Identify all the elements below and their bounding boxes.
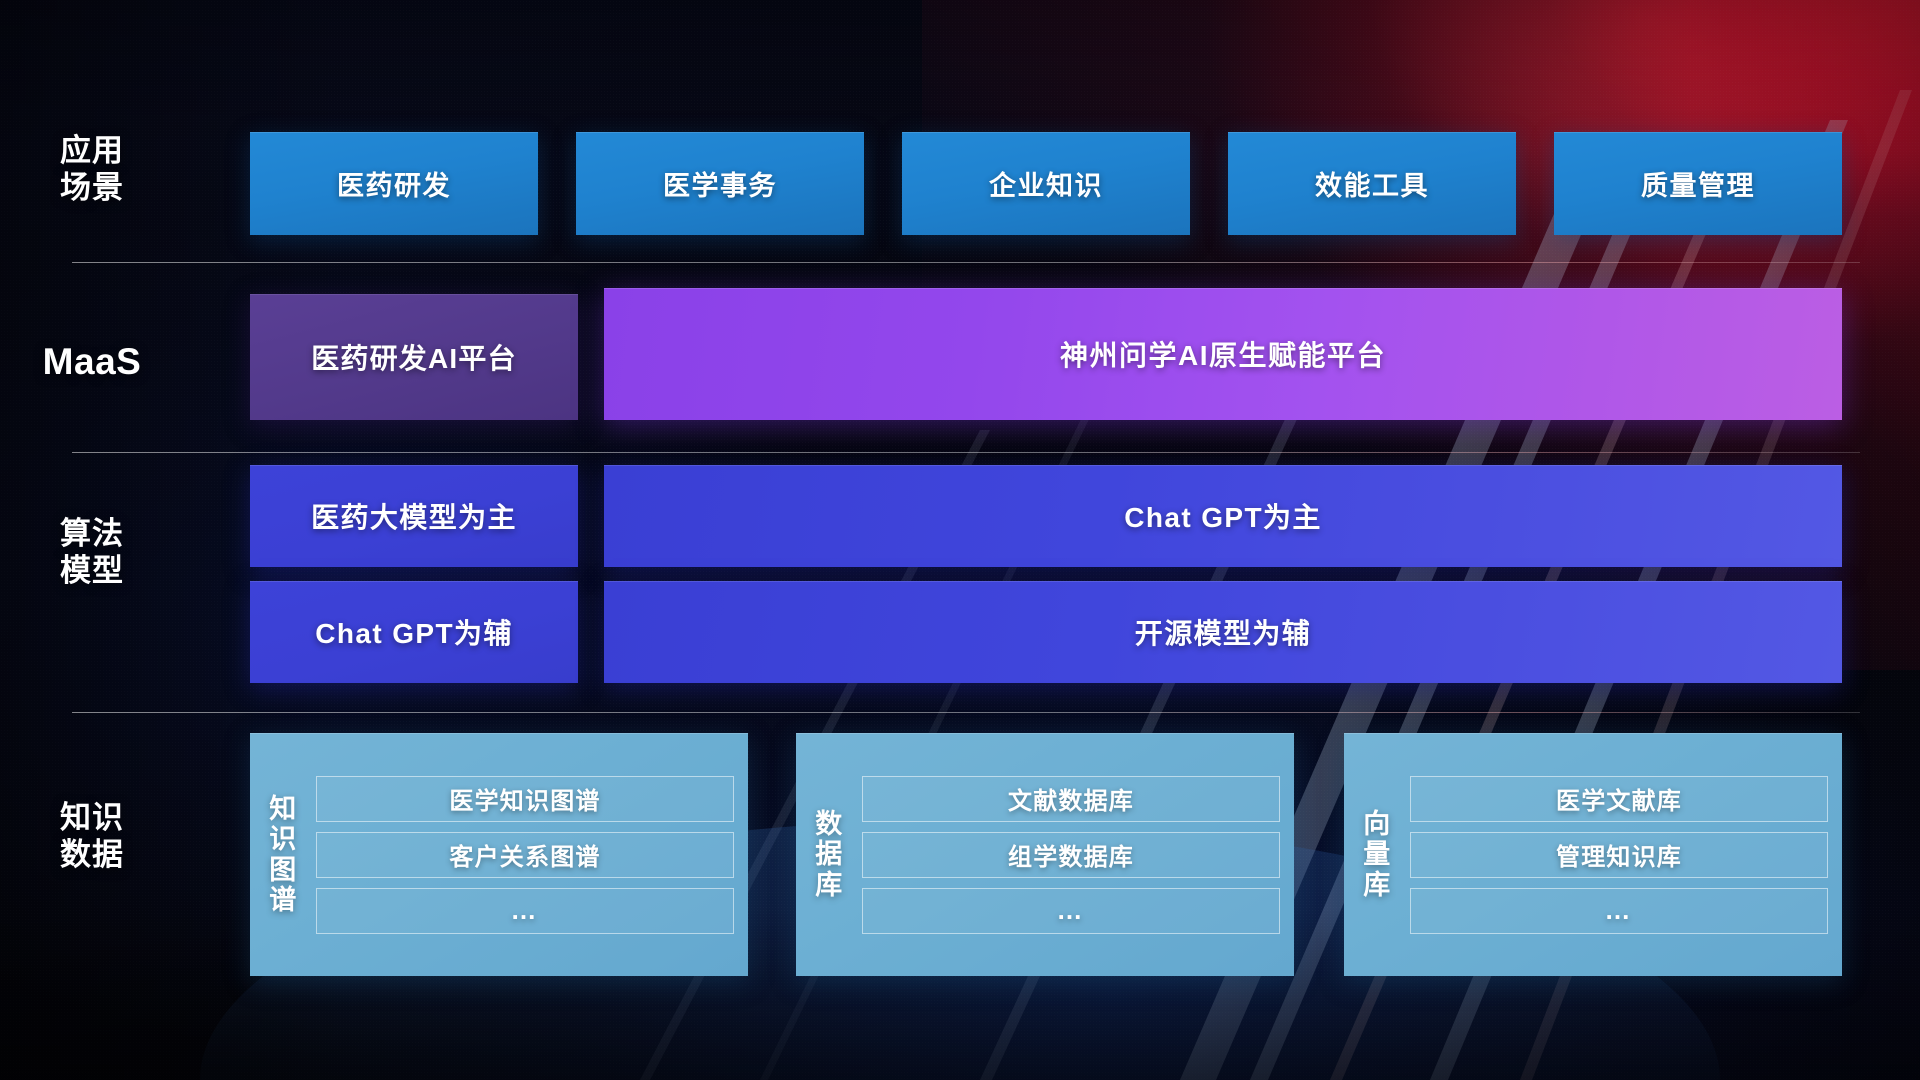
knowledge-panel-graph[interactable]: 知 识 图 谱 医学知识图谱 客户关系图谱 … [250,733,748,976]
row-label-knowledge: 知识 数据 [0,800,184,873]
knowledge-panel-graph-label: 知 识 图 谱 [250,794,316,915]
divider-3 [72,712,1860,713]
knowledge-panel-database[interactable]: 数 据 库 文献数据库 组学数据库 … [796,733,1294,976]
knowledge-panel-vector-items: 医学文献库 管理知识库 … [1410,776,1828,934]
app-box-4[interactable]: 效能工具 [1228,132,1516,235]
row-label-algorithm: 算法 模型 [0,516,184,589]
algo-box-wide-2[interactable]: 开源模型为辅 [604,581,1842,683]
algo-box-narrow-2[interactable]: Chat GPT为辅 [250,581,578,683]
app-box-1[interactable]: 医药研发 [250,132,538,235]
knowledge-item[interactable]: 文献数据库 [862,776,1280,822]
app-box-5[interactable]: 质量管理 [1554,132,1842,235]
algo-box-wide-1[interactable]: Chat GPT为主 [604,465,1842,567]
divider-1 [72,262,1860,263]
knowledge-item-more[interactable]: … [1410,888,1828,934]
knowledge-item[interactable]: 组学数据库 [862,832,1280,878]
knowledge-item[interactable]: 医学知识图谱 [316,776,734,822]
app-box-2[interactable]: 医学事务 [576,132,864,235]
knowledge-item[interactable]: 管理知识库 [1410,832,1828,878]
knowledge-panel-vector[interactable]: 向 量 库 医学文献库 管理知识库 … [1344,733,1842,976]
algo-box-narrow-1[interactable]: 医药大模型为主 [250,465,578,567]
knowledge-panel-database-items: 文献数据库 组学数据库 … [862,776,1280,934]
maas-box-shenzhou-wenxue-platform[interactable]: 神州问学AI原生赋能平台 [604,288,1842,420]
app-box-3[interactable]: 企业知识 [902,132,1190,235]
knowledge-panel-database-label: 数 据 库 [796,809,862,900]
knowledge-panel-graph-items: 医学知识图谱 客户关系图谱 … [316,776,734,934]
row-label-application: 应用 场景 [0,133,184,206]
divider-2 [72,452,1860,453]
architecture-diagram: 应用 场景 医药研发 医学事务 企业知识 效能工具 质量管理 MaaS 医药研发… [0,0,1920,1080]
row-label-maas: MaaS [0,340,184,384]
knowledge-item[interactable]: 医学文献库 [1410,776,1828,822]
knowledge-item-more[interactable]: … [316,888,734,934]
knowledge-item[interactable]: 客户关系图谱 [316,832,734,878]
maas-box-medical-ai-platform[interactable]: 医药研发AI平台 [250,294,578,420]
knowledge-item-more[interactable]: … [862,888,1280,934]
knowledge-panel-vector-label: 向 量 库 [1344,809,1410,900]
